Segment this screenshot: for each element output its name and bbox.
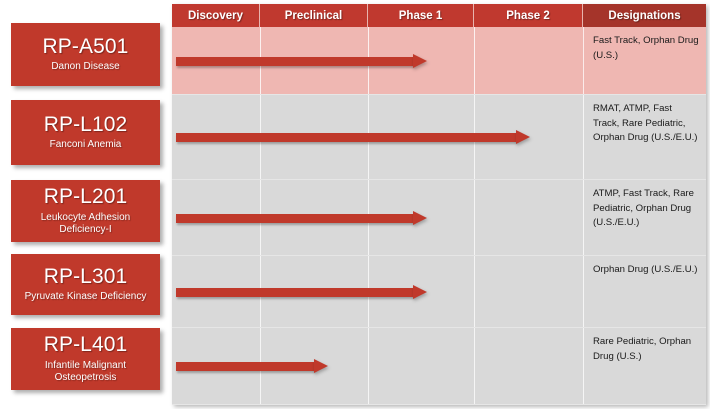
column-gridline — [474, 27, 475, 94]
progress-arrow — [176, 359, 328, 374]
program-code: RP-A501 — [43, 36, 129, 59]
column-header-designations: Designations — [583, 4, 706, 27]
column-header-preclinical: Preclinical — [260, 4, 368, 27]
table-row: RMAT, ATMP, Fast Track, Rare Pediatric, … — [172, 95, 706, 180]
arrow-shaft — [176, 214, 414, 223]
arrow-shaft — [176, 288, 414, 297]
designations-cell: ATMP, Fast Track, Rare Pediatric, Orphan… — [583, 180, 706, 255]
designations-cell: RMAT, ATMP, Fast Track, Rare Pediatric, … — [583, 95, 706, 179]
designations-cell: Fast Track, Orphan Drug (U.S.) — [583, 27, 706, 94]
program-card-rp-l301[interactable]: RP-L301Pyruvate Kinase Deficiency — [11, 254, 160, 315]
column-gridline — [474, 256, 475, 327]
pipeline-table: DiscoveryPreclinicalPhase 1Phase 2Design… — [172, 4, 706, 405]
program-indication: Leukocyte Adhesion Deficiency-I — [15, 212, 156, 236]
program-card-rp-l102[interactable]: RP-L102Fanconi Anemia — [11, 100, 160, 165]
program-indication: Infantile Malignant Osteopetrosis — [15, 360, 156, 384]
arrow-head-icon — [413, 54, 427, 68]
arrow-head-icon — [516, 130, 530, 144]
program-indication: Fanconi Anemia — [50, 139, 122, 151]
program-code: RP-L301 — [44, 266, 128, 289]
program-card-rp-a501[interactable]: RP-A501Danon Disease — [11, 23, 160, 86]
arrow-head-icon — [413, 211, 427, 225]
program-column: RP-A501Danon DiseaseRP-L102Fanconi Anemi… — [0, 0, 172, 409]
arrow-head-icon — [413, 285, 427, 299]
table-row: ATMP, Fast Track, Rare Pediatric, Orphan… — [172, 180, 706, 256]
program-indication: Pyruvate Kinase Deficiency — [25, 291, 147, 303]
table-row: Fast Track, Orphan Drug (U.S.) — [172, 27, 706, 95]
pipeline-chart: RP-A501Danon DiseaseRP-L102Fanconi Anemi… — [0, 0, 710, 409]
progress-arrow — [176, 211, 427, 226]
program-code: RP-L401 — [44, 334, 128, 357]
column-header-phase-2: Phase 2 — [474, 4, 583, 27]
column-gridline — [368, 328, 369, 404]
program-code: RP-L102 — [44, 114, 128, 137]
table-row: Orphan Drug (U.S./E.U.) — [172, 256, 706, 328]
program-code: RP-L201 — [44, 186, 128, 209]
program-card-rp-l201[interactable]: RP-L201Leukocyte Adhesion Deficiency-I — [11, 180, 160, 242]
column-gridline — [474, 180, 475, 255]
arrow-head-icon — [314, 359, 328, 373]
table-header-row: DiscoveryPreclinicalPhase 1Phase 2Design… — [172, 4, 706, 27]
column-header-phase-1: Phase 1 — [368, 4, 474, 27]
program-card-rp-l401[interactable]: RP-L401Infantile Malignant Osteopetrosis — [11, 328, 160, 390]
progress-arrow — [176, 285, 427, 300]
column-header-discovery: Discovery — [172, 4, 260, 27]
table-row: Rare Pediatric, Orphan Drug (U.S.) — [172, 328, 706, 405]
arrow-shaft — [176, 133, 517, 142]
designations-cell: Rare Pediatric, Orphan Drug (U.S.) — [583, 328, 706, 404]
table-body: Fast Track, Orphan Drug (U.S.)RMAT, ATMP… — [172, 27, 706, 405]
program-indication: Danon Disease — [51, 61, 119, 73]
arrow-shaft — [176, 362, 315, 371]
designations-cell: Orphan Drug (U.S./E.U.) — [583, 256, 706, 327]
column-gridline — [474, 328, 475, 404]
arrow-shaft — [176, 57, 414, 66]
progress-arrow — [176, 130, 530, 145]
progress-arrow — [176, 54, 427, 69]
